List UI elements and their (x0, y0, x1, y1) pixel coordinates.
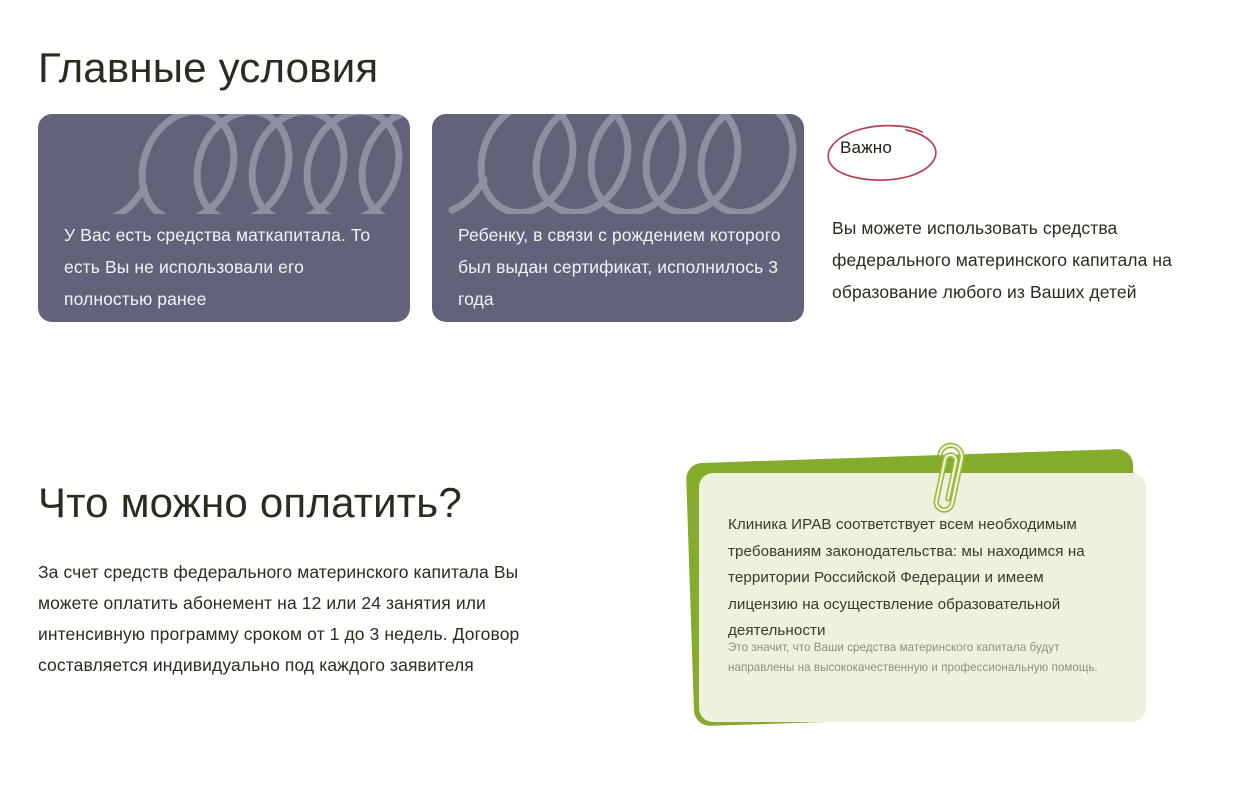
condition-card-1: У Вас есть средства маткапитала. То есть… (38, 114, 410, 322)
condition-card-1-text: У Вас есть средства маткапитала. То есть… (64, 219, 390, 315)
payment-paragraph: За счет средств федерального материнског… (38, 557, 568, 681)
condition-card-2: Ребенку, в связи с рождением которого бы… (432, 114, 804, 322)
sticky-note-body: Клиника ИРАВ соответствует всем необходи… (728, 512, 1088, 645)
page-title-payment: Что можно оплатить? (38, 480, 462, 526)
spiral-coil-doodle-icon (38, 114, 410, 214)
spiral-coil-doodle-icon (432, 114, 804, 214)
sticky-note: Клиника ИРАВ соответствует всем необходи… (676, 446, 1156, 736)
page-title-conditions: Главные условия (38, 45, 378, 91)
page-root: Главные условия У Вас есть средства матк… (0, 0, 1233, 794)
important-badge-label: Важно (840, 138, 892, 158)
conditions-side-note: Вы можете использовать средства федераль… (832, 212, 1212, 308)
sticky-note-fineprint: Это значит, что Ваши средства материнско… (728, 638, 1108, 678)
condition-card-2-text: Ребенку, в связи с рождением которого бы… (458, 219, 784, 315)
important-badge: Важно (818, 122, 946, 184)
